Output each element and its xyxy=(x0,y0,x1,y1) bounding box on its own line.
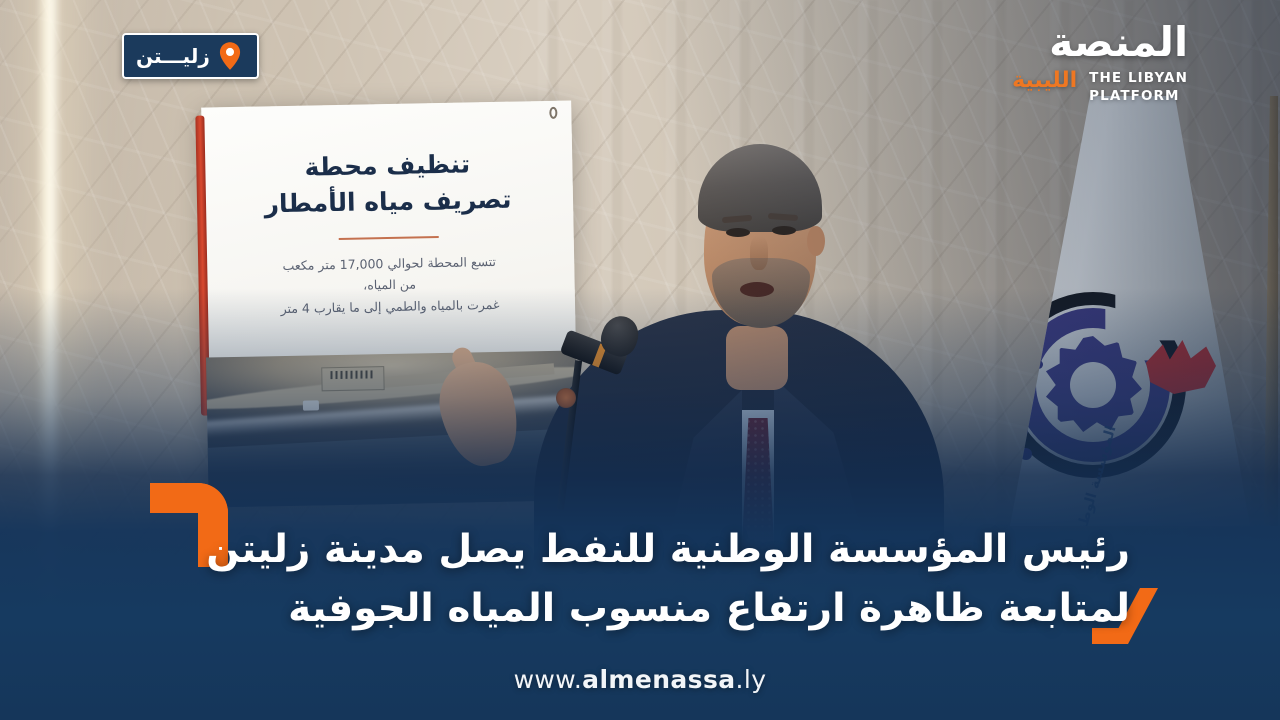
location-badge: زليـــتن xyxy=(122,33,259,79)
location-label: زليـــتن xyxy=(136,46,210,66)
news-card: تنظيف محطة تصريف مياه الأمطار تتسع المحط… xyxy=(0,0,1280,720)
headline-line-2: لمتابعة ظاهرة ارتفاع منسوب المياه الجوفي… xyxy=(240,579,1130,638)
url-prefix: www. xyxy=(514,665,583,694)
brand-english-line1: THE LIBYAN xyxy=(1089,70,1188,88)
headline-line-1: رئيس المؤسسة الوطنية للنفط يصل مدينة زلي… xyxy=(240,520,1130,579)
brand-arabic-secondary: الليبية xyxy=(1012,70,1077,92)
url-name: almenassa xyxy=(582,665,735,694)
headline: رئيس المؤسسة الوطنية للنفط يصل مدينة زلي… xyxy=(240,520,1130,639)
brand-arabic-primary: المنصة xyxy=(1012,22,1188,63)
brand-logo: المنصة THE LIBYAN PLATFORM الليبية xyxy=(1012,22,1188,106)
brand-english: THE LIBYAN PLATFORM xyxy=(1089,70,1188,106)
url-suffix: .ly xyxy=(736,665,767,694)
map-pin-icon xyxy=(219,42,241,70)
website-url[interactable]: www.almenassa.ly xyxy=(0,665,1280,694)
brand-english-line2: PLATFORM xyxy=(1089,88,1188,106)
